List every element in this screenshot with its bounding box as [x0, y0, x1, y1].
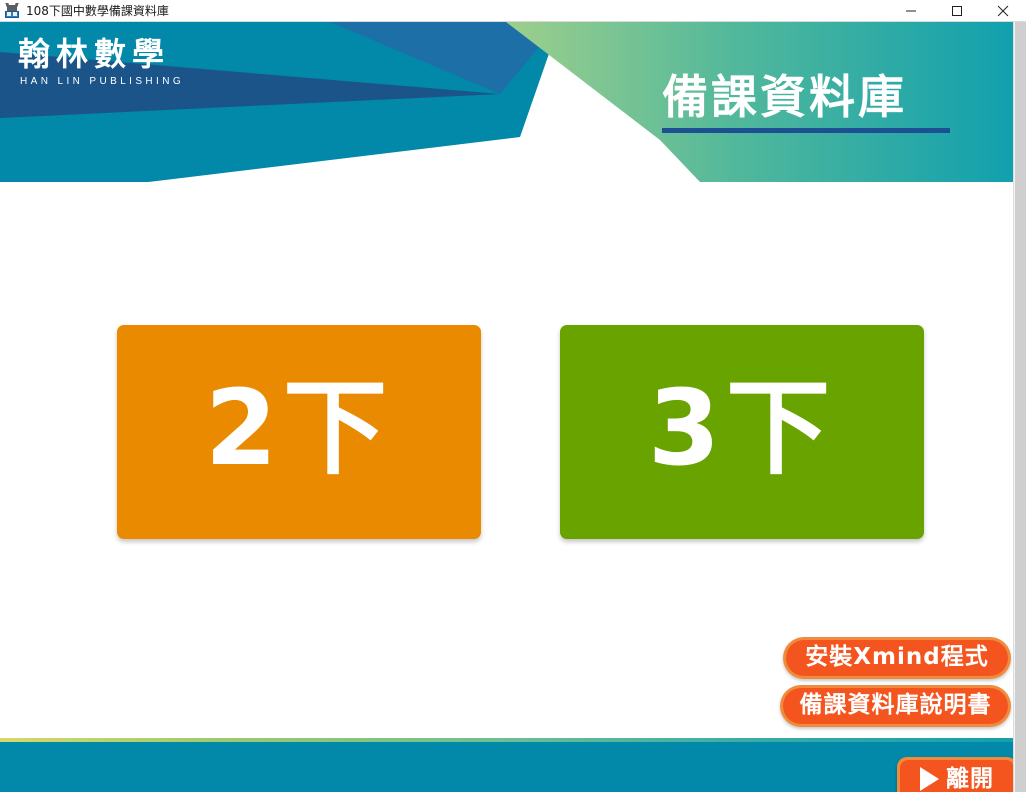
- window-controls: [888, 0, 1026, 22]
- close-icon[interactable]: [980, 0, 1026, 22]
- app-icon: [4, 3, 20, 19]
- exit-button-label: 離開: [946, 768, 994, 791]
- manual-button[interactable]: 備課資料庫說明書: [780, 685, 1011, 727]
- app-window: 翰林數學 HAN LIN PUBLISHING 備課資料庫 2下 3下 安裝Xm…: [0, 22, 1026, 792]
- main-content: 2下 3下 安裝Xmind程式 備課資料庫說明書: [0, 182, 1013, 742]
- exit-button-inner: 離開: [900, 760, 1014, 792]
- install-xmind-button-inner: 安裝Xmind程式: [786, 640, 1008, 676]
- grade-button-2下[interactable]: 2下: [117, 325, 481, 539]
- window-title: 108下國中數學備課資料庫: [26, 2, 169, 19]
- manual-button-inner: 備課資料庫說明書: [783, 688, 1008, 724]
- scrollbar-thumb[interactable]: [1015, 22, 1026, 792]
- play-triangle-icon: [920, 767, 939, 791]
- manual-button-label: 備課資料庫說明書: [800, 692, 992, 718]
- grade-button-3下[interactable]: 3下: [560, 325, 924, 539]
- maximize-icon[interactable]: [934, 0, 980, 22]
- install-xmind-button[interactable]: 安裝Xmind程式: [783, 637, 1011, 679]
- header-banner: 翰林數學 HAN LIN PUBLISHING 備課資料庫: [0, 22, 1013, 182]
- page-title: 備課資料庫: [662, 74, 950, 133]
- vertical-scrollbar[interactable]: [1013, 22, 1026, 792]
- grade-button-label: 2下: [205, 376, 393, 480]
- page-title-text: 備課資料庫: [662, 74, 950, 120]
- page-title-underline: [662, 128, 950, 133]
- install-xmind-button-label: 安裝Xmind程式: [805, 644, 988, 670]
- grade-button-label: 3下: [648, 376, 836, 480]
- footer-bar: [0, 742, 1013, 792]
- window-titlebar: 108下國中數學備課資料庫: [0, 0, 1026, 22]
- minimize-icon[interactable]: [888, 0, 934, 22]
- exit-button[interactable]: 離開: [897, 757, 1017, 792]
